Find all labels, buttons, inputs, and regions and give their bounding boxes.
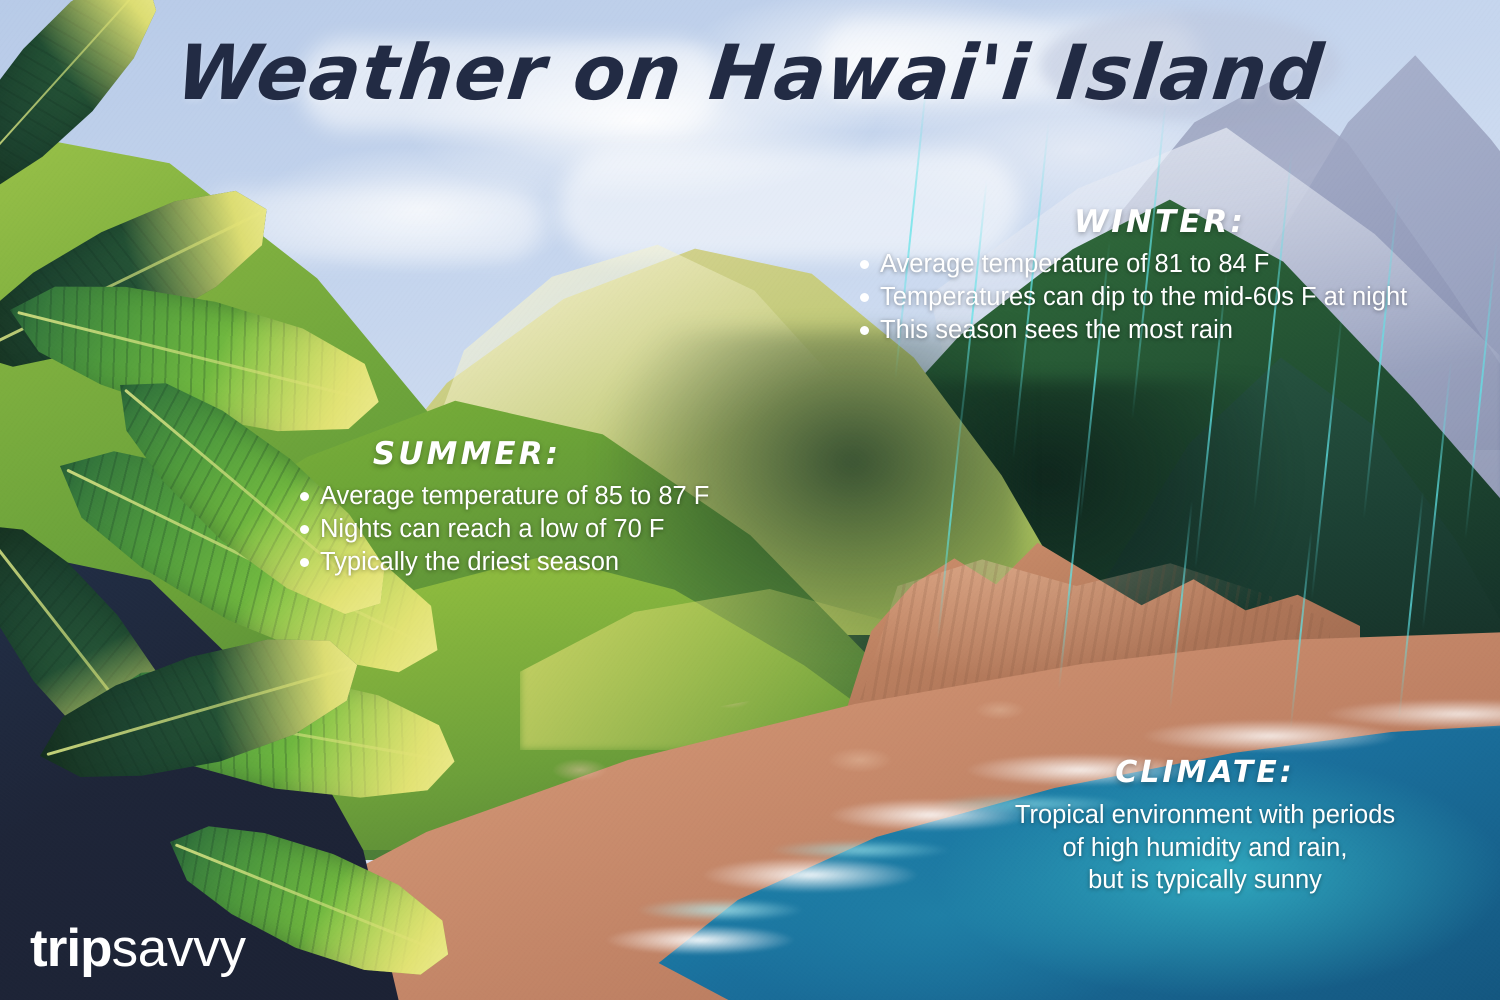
winter-bullet-text: This season sees the most rain <box>880 314 1233 347</box>
bullet-dot-icon <box>860 326 869 335</box>
winter-section: WINTER: Average temperature of 81 to 84 … <box>860 204 1480 347</box>
climate-heading: CLIMATE: <box>960 755 1450 790</box>
climate-line: Tropical environment with periods <box>960 799 1450 832</box>
winter-heading: WINTER: <box>860 204 1460 240</box>
title-text: Weather on Hawai'i Island <box>172 28 1328 117</box>
summer-heading: SUMMER: <box>312 436 622 472</box>
summer-section: SUMMER: Average temperature of 85 to 87 … <box>300 436 770 579</box>
list-item: This season sees the most rain <box>860 314 1480 347</box>
list-item: Average temperature of 81 to 84 F <box>860 248 1480 281</box>
list-item: Average temperature of 85 to 87 F <box>300 480 770 513</box>
tripsavvy-logo[interactable]: tripsavvy <box>30 918 246 979</box>
list-item: Nights can reach a low of 70 F <box>300 513 770 546</box>
list-item: Typically the driest season <box>300 546 770 579</box>
logo-word-savvy: savvy <box>112 918 246 979</box>
climate-section: CLIMATE: Tropical environment with perio… <box>960 755 1450 897</box>
bullet-dot-icon <box>300 492 309 501</box>
summer-bullet-text: Nights can reach a low of 70 F <box>320 513 664 546</box>
bullet-dot-icon <box>300 558 309 567</box>
climate-line: but is typically sunny <box>960 864 1450 897</box>
page-title: Weather on Hawai'i Island <box>0 28 1500 117</box>
summer-bullet-list: Average temperature of 85 to 87 F Nights… <box>300 480 770 579</box>
summer-bullet-text: Average temperature of 85 to 87 F <box>320 480 709 513</box>
climate-line: of high humidity and rain, <box>960 832 1450 865</box>
list-item: Temperatures can dip to the mid-60s F at… <box>860 281 1480 314</box>
bullet-dot-icon <box>860 260 869 269</box>
bullet-dot-icon <box>860 293 869 302</box>
infographic-canvas: Weather on Hawai'i Island WINTER: Averag… <box>0 0 1500 1000</box>
winter-bullet-list: Average temperature of 81 to 84 F Temper… <box>860 248 1480 347</box>
winter-bullet-text: Average temperature of 81 to 84 F <box>880 248 1269 281</box>
bullet-dot-icon <box>300 525 309 534</box>
winter-bullet-text: Temperatures can dip to the mid-60s F at… <box>880 281 1407 314</box>
summer-bullet-text: Typically the driest season <box>320 546 619 579</box>
logo-word-trip: trip <box>30 918 112 979</box>
